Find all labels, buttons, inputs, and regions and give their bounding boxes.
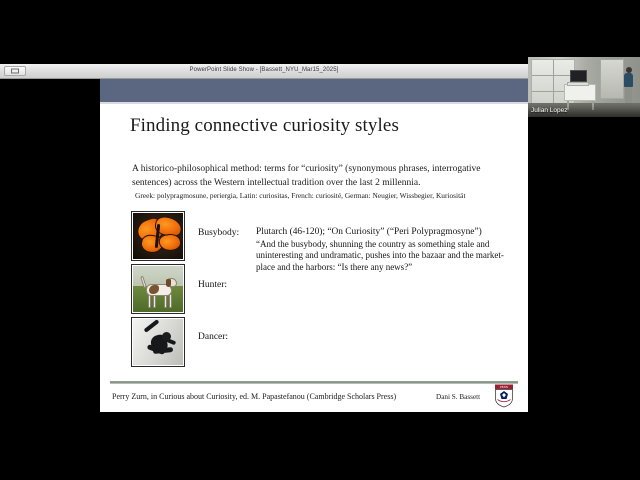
svg-text:PENN: PENN bbox=[500, 385, 509, 389]
hunting-dog-image bbox=[132, 265, 184, 313]
video-monitor bbox=[570, 70, 587, 82]
video-person-torso bbox=[624, 73, 633, 87]
busybody-quote: “And the busybody, shunning the country … bbox=[256, 239, 514, 274]
powerpoint-slideshow-window: PowerPoint Slide Show - [Bassett_NYU_Mar… bbox=[0, 64, 528, 412]
slide-language-terms: Greek: polypragmosune, periergia, Latin:… bbox=[135, 191, 525, 201]
slide-header-banner bbox=[100, 79, 528, 102]
window-body: Finding connective curiosity styles A hi… bbox=[0, 79, 528, 412]
slide-title: Finding connective curiosity styles bbox=[130, 115, 399, 137]
video-shelf-divider bbox=[553, 60, 554, 104]
video-keyboard bbox=[567, 82, 589, 86]
footer-citation: Perry Zurn, in Curious about Curiosity, … bbox=[112, 391, 396, 402]
dancer-head bbox=[162, 332, 171, 341]
video-projection-screen bbox=[600, 59, 624, 99]
dog-leg-1 bbox=[148, 294, 151, 308]
busybody-citation: Plutarch (46-120); “On Curiosity” (“Peri… bbox=[256, 227, 482, 237]
window-title-text: PowerPoint Slide Show - [Bassett_NYU_Mar… bbox=[0, 66, 528, 75]
butterfly-image bbox=[132, 212, 184, 260]
footer-divider bbox=[110, 381, 518, 384]
penn-shield-logo: PENN bbox=[493, 384, 515, 408]
slide-lead-paragraph: A historico-philosophical method: terms … bbox=[132, 163, 504, 190]
dancer-image bbox=[132, 318, 184, 366]
style-label-busybody: Busybody: bbox=[198, 227, 239, 239]
slide-header-underline bbox=[100, 102, 528, 104]
video-person-legs bbox=[625, 86, 632, 103]
screen-root: PowerPoint Slide Show - [Bassett_NYU_Mar… bbox=[0, 0, 640, 480]
dog-leg-3 bbox=[164, 294, 167, 308]
presentation-slide[interactable]: Finding connective curiosity styles A hi… bbox=[100, 79, 528, 412]
video-person-head bbox=[626, 67, 632, 73]
video-participant-tile[interactable]: Julian Lopez bbox=[528, 57, 640, 117]
style-label-dancer: Dancer: bbox=[198, 331, 228, 343]
video-desk bbox=[564, 84, 596, 101]
window-titlebar[interactable]: PowerPoint Slide Show - [Bassett_NYU_Mar… bbox=[0, 64, 528, 79]
video-participant-name: Julian Lopez bbox=[531, 106, 568, 115]
style-label-hunter: Hunter: bbox=[198, 279, 227, 291]
dog-leg-4 bbox=[169, 294, 172, 308]
dog-leg-2 bbox=[153, 294, 156, 308]
busybody-definition-block: Plutarch (46-120); “On Curiosity” (“Peri… bbox=[256, 226, 514, 273]
dog-ear bbox=[166, 279, 171, 287]
footer-author: Dani S. Bassett bbox=[436, 392, 480, 402]
